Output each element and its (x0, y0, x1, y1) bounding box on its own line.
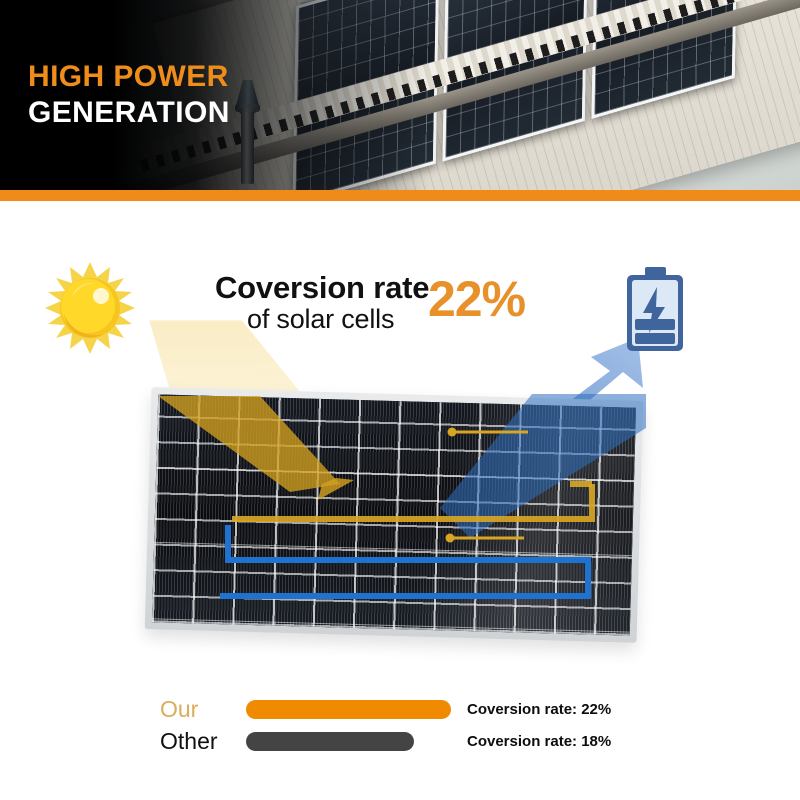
orange-divider (0, 190, 800, 201)
energy-flow-overlay (140, 388, 650, 650)
comparison-label-our: Our (160, 698, 246, 721)
hero-title: HIGH POWER GENERATION (28, 62, 230, 128)
sun-icon (38, 258, 142, 362)
comparison-value-other: Coversion rate: 18% (461, 733, 611, 750)
comparison-bar-track-other (246, 732, 461, 751)
battery-charging-icon (617, 265, 693, 357)
comparison-bar-track-our (246, 700, 461, 719)
conversion-percent-value: 22% (428, 274, 525, 324)
solar-panel-photo (140, 388, 650, 650)
comparison-row-other: Other Coversion rate: 18% (160, 725, 660, 757)
hero-title-line1: HIGH POWER (28, 62, 230, 92)
comparison-label-other: Other (160, 730, 246, 753)
hero-banner: HIGH POWER GENERATION (0, 0, 800, 190)
conversion-comparison-chart: Our Coversion rate: 22% Other Coversion … (160, 693, 660, 757)
comparison-value-our: Coversion rate: 22% (461, 701, 611, 718)
product-infographic: HIGH POWER GENERATION Coversion rate of … (0, 0, 800, 800)
comparison-row-our: Our Coversion rate: 22% (160, 693, 660, 725)
comparison-bar-our (246, 700, 451, 719)
comparison-bar-other (246, 732, 414, 751)
hero-title-line2: GENERATION (28, 98, 230, 128)
